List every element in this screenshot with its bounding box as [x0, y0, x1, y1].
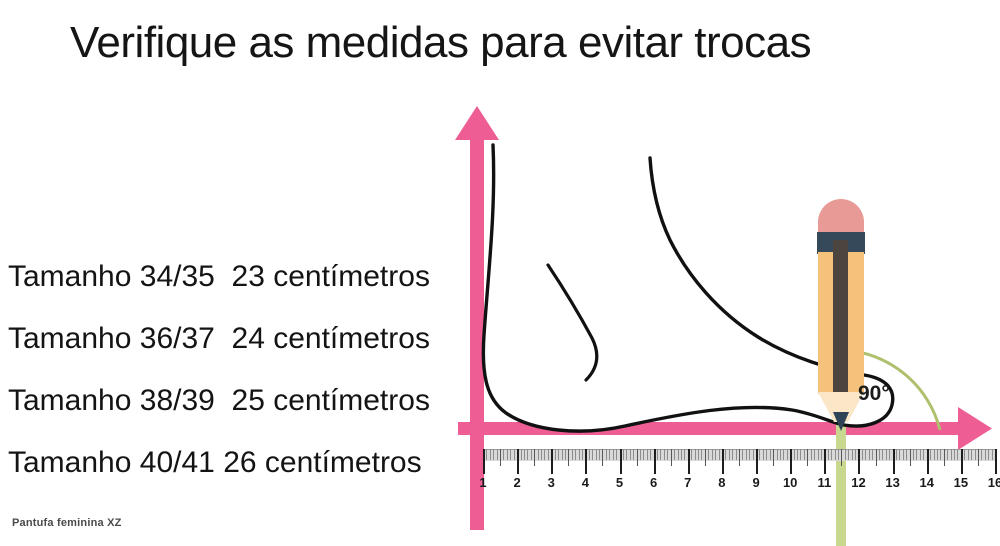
size-row-label: Tamanho: [8, 322, 131, 355]
ruler-tick-minor: [814, 449, 815, 460]
ruler-tick-minor: [681, 449, 682, 460]
ruler-number: 4: [582, 475, 589, 490]
ruler-tick-major: [790, 449, 792, 474]
ruler-tick-minor: [541, 449, 542, 460]
ruler-number: 5: [616, 475, 623, 490]
size-row: Tamanho 40/41 26 centímetros: [8, 432, 478, 494]
ruler-tick-minor: [940, 449, 941, 460]
ruler-tick-minor: [916, 449, 917, 460]
ruler-tick-minor: [753, 449, 754, 460]
ruler-number: 12: [851, 475, 865, 490]
ruler-tick-minor: [565, 449, 566, 460]
size-row-size: 38/39: [140, 384, 215, 417]
ruler-tick-minor: [800, 449, 801, 460]
ruler-tick-minor: [678, 449, 679, 460]
ruler-tick-minor: [732, 449, 733, 460]
ruler-tick-minor: [889, 449, 890, 460]
ruler-tick-minor: [558, 449, 559, 460]
ruler-tick-minor: [783, 449, 784, 460]
size-row-size: 40/41: [140, 446, 215, 479]
ruler-number: 6: [650, 475, 657, 490]
ruler-tick-minor: [985, 449, 986, 460]
ruler-tick-minor: [579, 449, 580, 460]
ruler-tick-half: [534, 449, 535, 466]
size-row: Tamanho 36/37 24 centímetros: [8, 308, 478, 370]
ruler-tick-half: [568, 449, 569, 466]
ruler-tick-half: [500, 449, 501, 466]
ruler-tick-minor: [852, 449, 853, 460]
ruler-tick-minor: [818, 449, 819, 460]
ruler-tick-minor: [957, 449, 958, 460]
ruler-tick-minor: [811, 449, 812, 460]
ruler-number: 11: [817, 475, 831, 490]
ruler-tick-minor: [643, 449, 644, 460]
page-title: Verifique as medidas para evitar trocas: [70, 18, 950, 68]
ruler-tick-major: [961, 449, 963, 474]
size-row-label: Tamanho: [8, 260, 131, 293]
ruler-tick-half: [841, 449, 842, 466]
ruler-tick-minor: [486, 449, 487, 460]
ruler-tick-minor: [490, 449, 491, 460]
ruler: 12345678910111213141516: [483, 449, 995, 483]
ruler-tick-minor: [630, 449, 631, 460]
ruler-tick-minor: [521, 449, 522, 460]
ruler-tick-minor: [770, 449, 771, 460]
ruler-tick-minor: [759, 449, 760, 460]
ruler-tick-minor: [951, 449, 952, 460]
ruler-tick-minor: [674, 449, 675, 460]
ruler-tick-half: [978, 449, 979, 466]
ruler-tick-minor: [650, 449, 651, 460]
ruler-tick-minor: [988, 449, 989, 460]
infographic-canvas: Verifique as medidas para evitar trocas …: [0, 0, 1000, 546]
ruler-tick-minor: [572, 449, 573, 460]
ruler-tick-minor: [821, 449, 822, 460]
ruler-tick-half: [671, 449, 672, 466]
ruler-tick-minor: [695, 449, 696, 460]
ruler-tick-minor: [954, 449, 955, 460]
ruler-tick-half: [807, 449, 808, 466]
ruler-tick-major: [620, 449, 622, 474]
ruler-tick-half: [944, 449, 945, 466]
ruler-tick-minor: [899, 449, 900, 460]
ruler-tick-minor: [777, 449, 778, 460]
ruler-tick-minor: [719, 449, 720, 460]
ruler-tick-minor: [510, 449, 511, 460]
size-row-label: Tamanho: [8, 384, 131, 417]
ruler-tick-minor: [633, 449, 634, 460]
ruler-tick-minor: [981, 449, 982, 460]
ruler-tick-half: [602, 449, 603, 466]
size-row-size: 36/37: [140, 322, 215, 355]
ruler-tick-minor: [845, 449, 846, 460]
size-row-measure: 24 centímetros: [232, 322, 430, 355]
ruler-tick-major: [585, 449, 587, 474]
ruler-tick-minor: [613, 449, 614, 460]
ruler-tick-major: [722, 449, 724, 474]
ruler-tick-major: [927, 449, 929, 474]
ruler-tick-minor: [640, 449, 641, 460]
ruler-number: 2: [514, 475, 521, 490]
ruler-tick-half: [910, 449, 911, 466]
ruler-tick-minor: [729, 449, 730, 460]
ruler-tick-half: [705, 449, 706, 466]
ruler-tick-minor: [934, 449, 935, 460]
ruler-tick-minor: [968, 449, 969, 460]
size-row-measure: 26 centímetros: [223, 446, 421, 479]
ruler-tick-minor: [555, 449, 556, 460]
ruler-tick-minor: [657, 449, 658, 460]
ruler-tick-minor: [886, 449, 887, 460]
ruler-tick-minor: [882, 449, 883, 460]
ruler-tick-minor: [562, 449, 563, 460]
ruler-tick-major: [688, 449, 690, 474]
ruler-tick-minor: [879, 449, 880, 460]
ruler-tick-major: [483, 449, 485, 474]
ruler-tick-minor: [736, 449, 737, 460]
ruler-tick-major: [824, 449, 826, 474]
ruler-tick-minor: [524, 449, 525, 460]
ruler-tick-minor: [787, 449, 788, 460]
ruler-tick-minor: [838, 449, 839, 460]
ruler-tick-minor: [763, 449, 764, 460]
ruler-tick-minor: [548, 449, 549, 460]
ruler-tick-minor: [701, 449, 702, 460]
ruler-tick-minor: [626, 449, 627, 460]
ruler-tick-major: [654, 449, 656, 474]
ruler-tick-minor: [503, 449, 504, 460]
ruler-number: 15: [954, 475, 968, 490]
ruler-tick-half: [637, 449, 638, 466]
ruler-tick-minor: [920, 449, 921, 460]
size-list: Tamanho 34/35 23 centímetros Tamanho 36/…: [8, 246, 478, 494]
ruler-tick-minor: [947, 449, 948, 460]
ruler-tick-minor: [742, 449, 743, 460]
ruler-number: 10: [783, 475, 797, 490]
ruler-tick-major: [893, 449, 895, 474]
ruler-tick-minor: [708, 449, 709, 460]
ruler-tick-minor: [647, 449, 648, 460]
ruler-tick-minor: [497, 449, 498, 460]
ruler-tick-minor: [660, 449, 661, 460]
ruler-tick-major: [551, 449, 553, 474]
ruler-tick-minor: [712, 449, 713, 460]
size-row-measure: 25 centímetros: [232, 384, 430, 417]
ruler-tick-minor: [923, 449, 924, 460]
ruler-tick-minor: [592, 449, 593, 460]
ruler-tick-minor: [913, 449, 914, 460]
ruler-tick-minor: [869, 449, 870, 460]
ruler-number: 16: [988, 475, 1000, 490]
ruler-tick-minor: [582, 449, 583, 460]
size-row-label: Tamanho: [8, 446, 131, 479]
ruler-tick-minor: [527, 449, 528, 460]
ruler-tick-minor: [715, 449, 716, 460]
ruler-tick-minor: [831, 449, 832, 460]
angle-label: 90°: [858, 382, 890, 405]
ruler-tick-minor: [865, 449, 866, 460]
ruler-tick-minor: [667, 449, 668, 460]
ruler-tick-minor: [684, 449, 685, 460]
ruler-tick-minor: [623, 449, 624, 460]
ruler-tick-minor: [746, 449, 747, 460]
ruler-tick-minor: [896, 449, 897, 460]
ruler-tick-minor: [835, 449, 836, 460]
ruler-tick-minor: [575, 449, 576, 460]
ruler-tick-minor: [797, 449, 798, 460]
ruler-tick-minor: [903, 449, 904, 460]
ruler-number: 13: [885, 475, 899, 490]
ruler-tick-minor: [538, 449, 539, 460]
ruler-tick-minor: [599, 449, 600, 460]
ruler-tick-major: [858, 449, 860, 474]
ruler-tick-minor: [855, 449, 856, 460]
ruler-tick-minor: [698, 449, 699, 460]
ruler-tick-minor: [780, 449, 781, 460]
ruler-tick-minor: [804, 449, 805, 460]
ruler-tick-minor: [514, 449, 515, 460]
size-row-size: 34/35: [140, 260, 215, 293]
ruler-tick-minor: [616, 449, 617, 460]
ruler-tick-minor: [848, 449, 849, 460]
ruler-tick-minor: [609, 449, 610, 460]
ruler-tick-minor: [872, 449, 873, 460]
ruler-number: 14: [919, 475, 933, 490]
ruler-tick-minor: [606, 449, 607, 460]
ruler-number: 8: [718, 475, 725, 490]
ruler-tick-minor: [544, 449, 545, 460]
ruler-tick-minor: [971, 449, 972, 460]
ruler-tick-minor: [664, 449, 665, 460]
ruler-number: 7: [684, 475, 691, 490]
ruler-tick-minor: [596, 449, 597, 460]
ruler-tick-minor: [964, 449, 965, 460]
ruler-number: 9: [752, 475, 759, 490]
ruler-tick-minor: [906, 449, 907, 460]
size-row: Tamanho 34/35 23 centímetros: [8, 246, 478, 308]
ruler-tick-minor: [930, 449, 931, 460]
ruler-tick-minor: [691, 449, 692, 460]
ruler-tick-major: [995, 449, 997, 474]
ruler-tick-minor: [937, 449, 938, 460]
ruler-tick-minor: [975, 449, 976, 460]
ruler-tick-minor: [794, 449, 795, 460]
ruler-tick-minor: [828, 449, 829, 460]
ruler-tick-minor: [725, 449, 726, 460]
ruler-tick-minor: [766, 449, 767, 460]
ruler-tick-major: [756, 449, 758, 474]
size-row: Tamanho 38/39 25 centímetros: [8, 370, 478, 432]
ruler-number: 1: [479, 475, 486, 490]
ruler-tick-half: [773, 449, 774, 466]
watermark-text: Pantufa feminina XZ: [12, 517, 122, 529]
ruler-tick-major: [517, 449, 519, 474]
ruler-tick-minor: [507, 449, 508, 460]
ruler-tick-minor: [749, 449, 750, 460]
ruler-tick-half: [739, 449, 740, 466]
ruler-tick-minor: [493, 449, 494, 460]
ruler-tick-minor: [862, 449, 863, 460]
ruler-tick-minor: [589, 449, 590, 460]
ruler-number: 3: [548, 475, 555, 490]
ruler-tick-half: [876, 449, 877, 466]
size-row-measure: 23 centímetros: [232, 260, 430, 293]
ruler-tick-minor: [531, 449, 532, 460]
ruler-tick-minor: [992, 449, 993, 460]
